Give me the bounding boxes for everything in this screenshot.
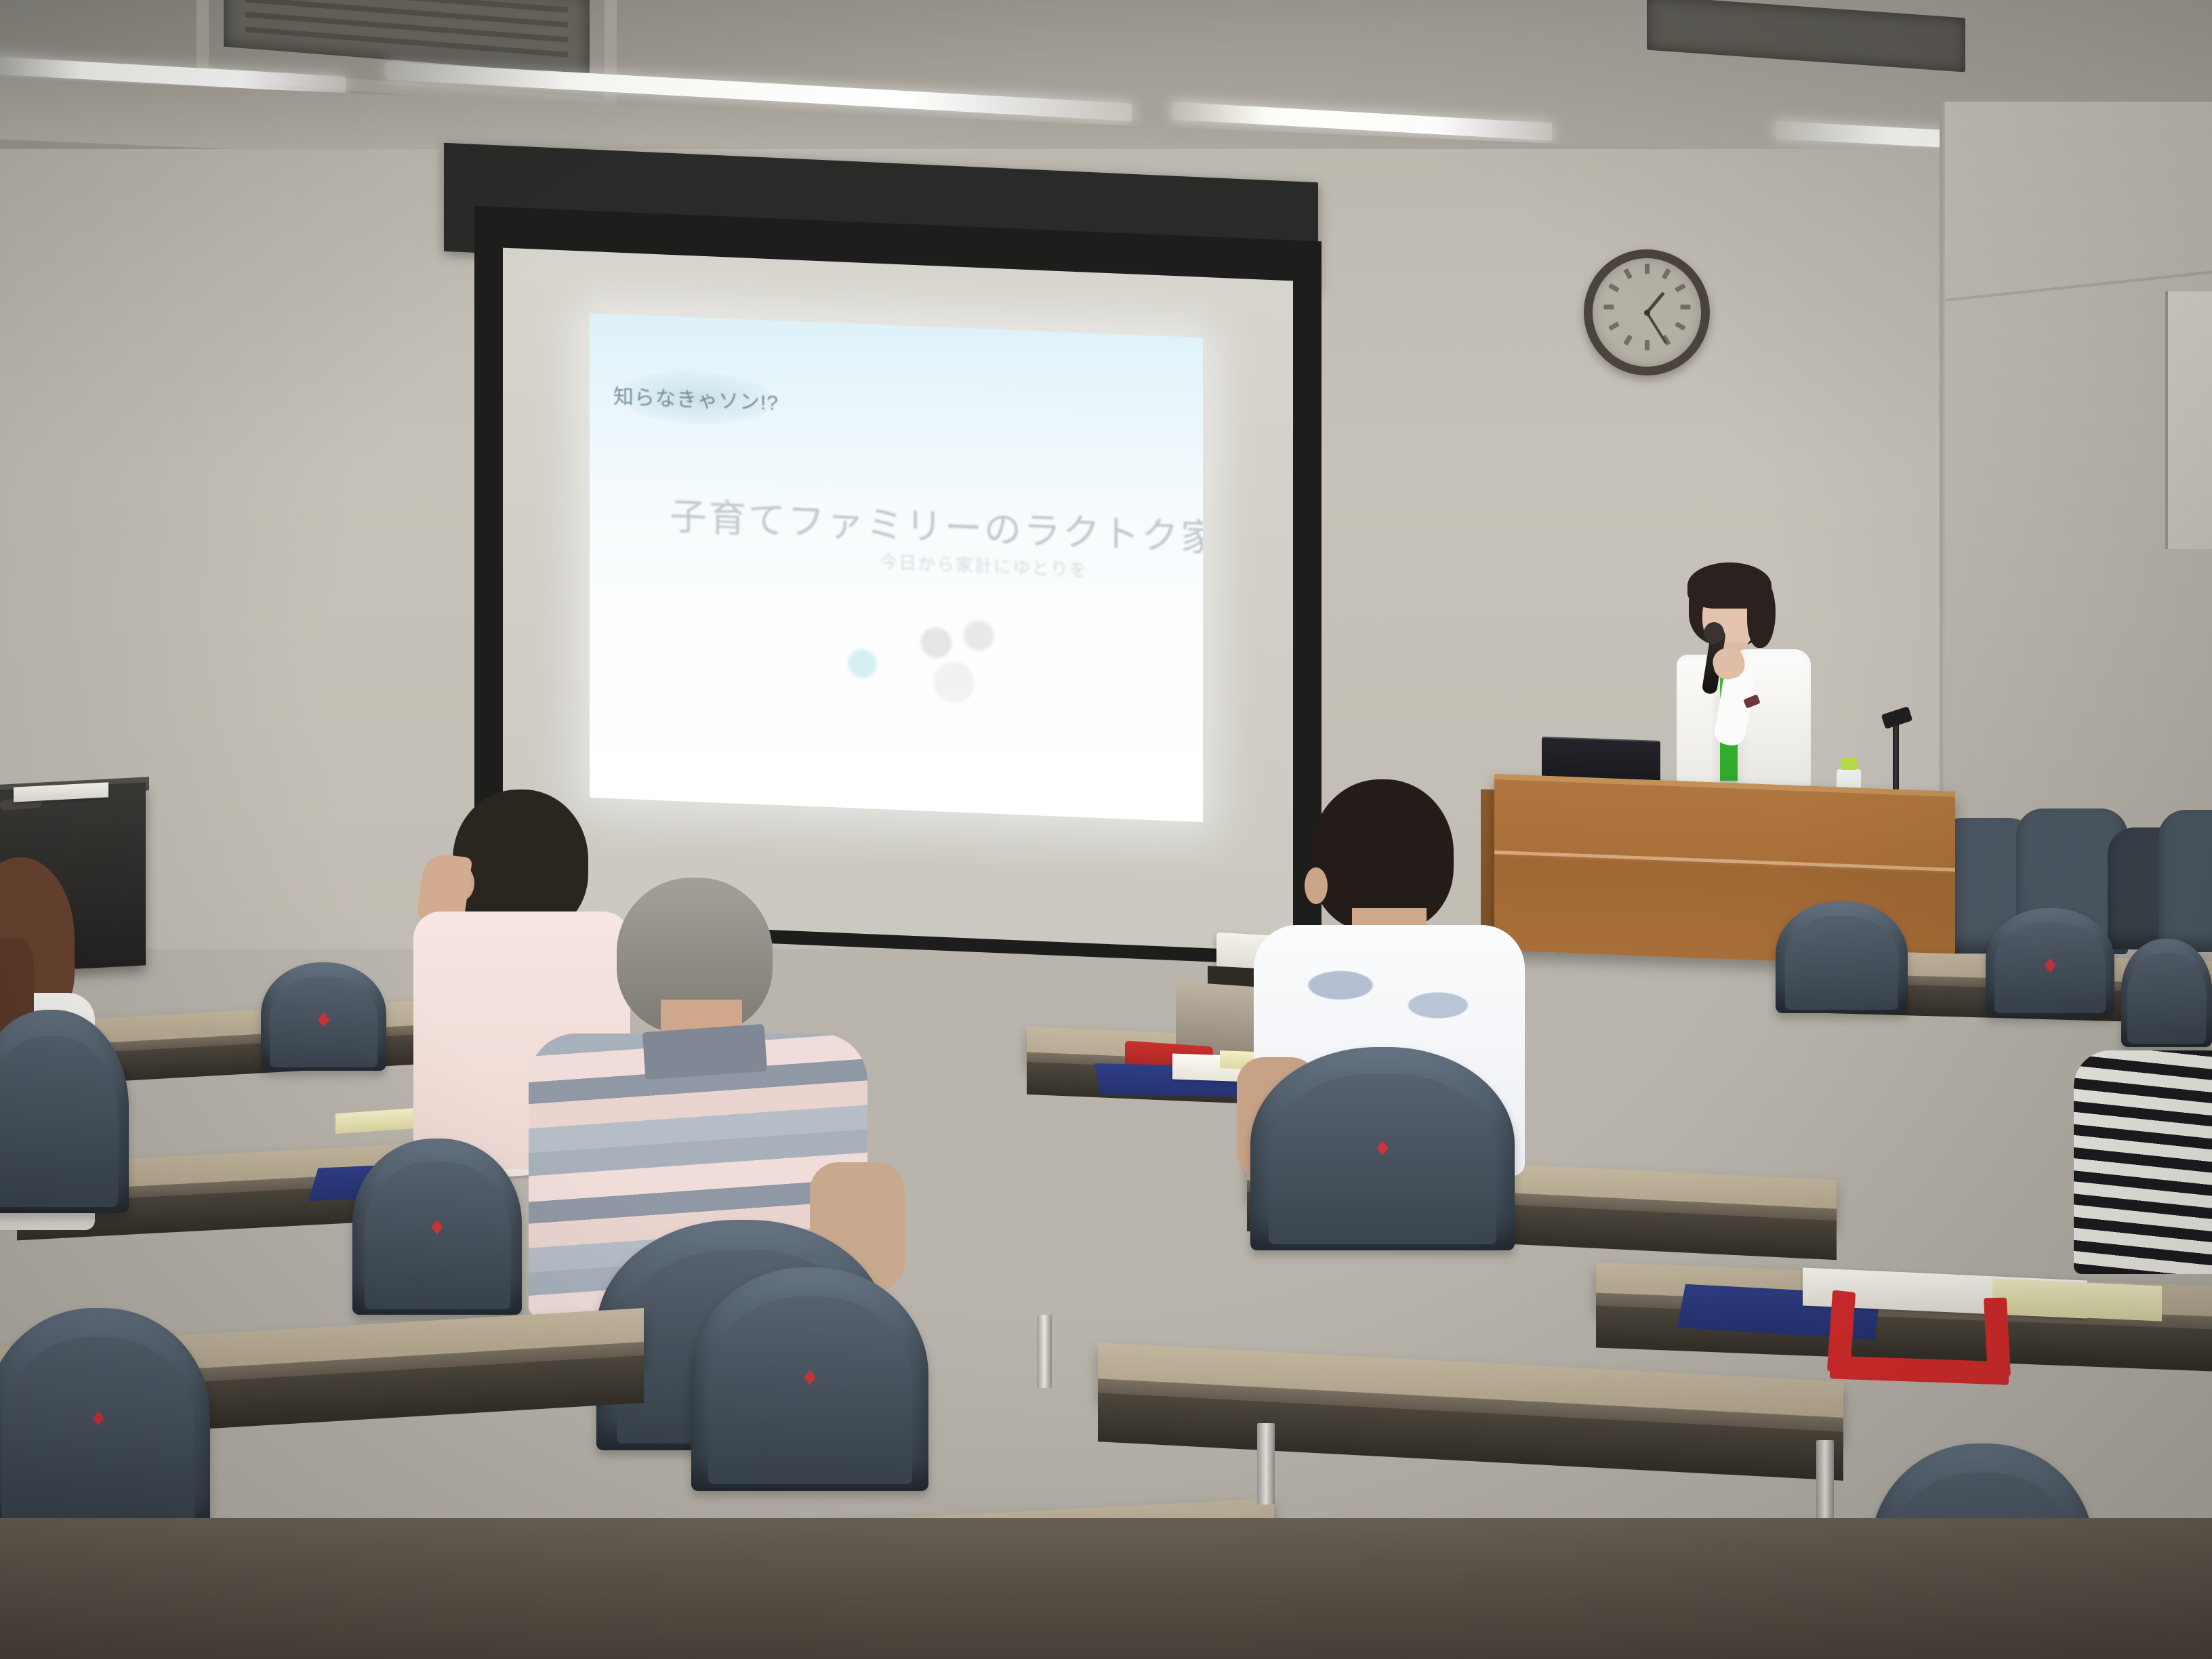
- side-door[interactable]: [2165, 291, 2212, 549]
- desk-leg-2: [1816, 1440, 1834, 1520]
- chair-person-4[interactable]: [1250, 1047, 1515, 1250]
- presenter-jacket-right: [1738, 649, 1811, 787]
- person4-ear: [1305, 867, 1328, 904]
- chair-front-1[interactable]: [0, 1308, 210, 1532]
- presenter-hair-side: [1747, 577, 1776, 648]
- wall-clock: [1584, 249, 1710, 375]
- chair-back-3[interactable]: [1986, 908, 2114, 1017]
- slide-title: 子育てファミリーのラクトク家計術: [670, 486, 1198, 561]
- desk-leg-1: [1257, 1423, 1275, 1504]
- chair-back-1[interactable]: [261, 962, 386, 1071]
- desk-leg-3: [1037, 1315, 1052, 1388]
- audience-person-5: [2074, 1023, 2212, 1308]
- lecture-room-photo: 知らなきゃソン!? 子育てファミリーのラクトク家計術 今日から家計にゆとりを: [0, 0, 2212, 1659]
- floor: [0, 1518, 2212, 1659]
- clock-hub: [1644, 310, 1650, 316]
- person5-torso-striped: [2074, 1050, 2212, 1274]
- presenter: [1654, 562, 1837, 793]
- chair-back-2[interactable]: [1776, 901, 1908, 1013]
- chair-person-2[interactable]: [352, 1139, 522, 1315]
- projected-slide: 知らなきゃソン!? 子育てファミリーのラクトク家計術 今日から家計にゆとりを: [590, 313, 1203, 822]
- chair-front-2[interactable]: [691, 1267, 928, 1491]
- water-bottle-cap: [1841, 758, 1857, 770]
- slide-bubble-label: 知らなきゃソン!?: [613, 380, 779, 416]
- slide-artwork: [813, 593, 1037, 751]
- person3-collar: [642, 1024, 767, 1080]
- slide-bubble: 知らなきゃソン!?: [618, 369, 774, 428]
- clock-minute-hand: [1645, 312, 1667, 344]
- air-conditioner-vent-right: [1647, 0, 1965, 72]
